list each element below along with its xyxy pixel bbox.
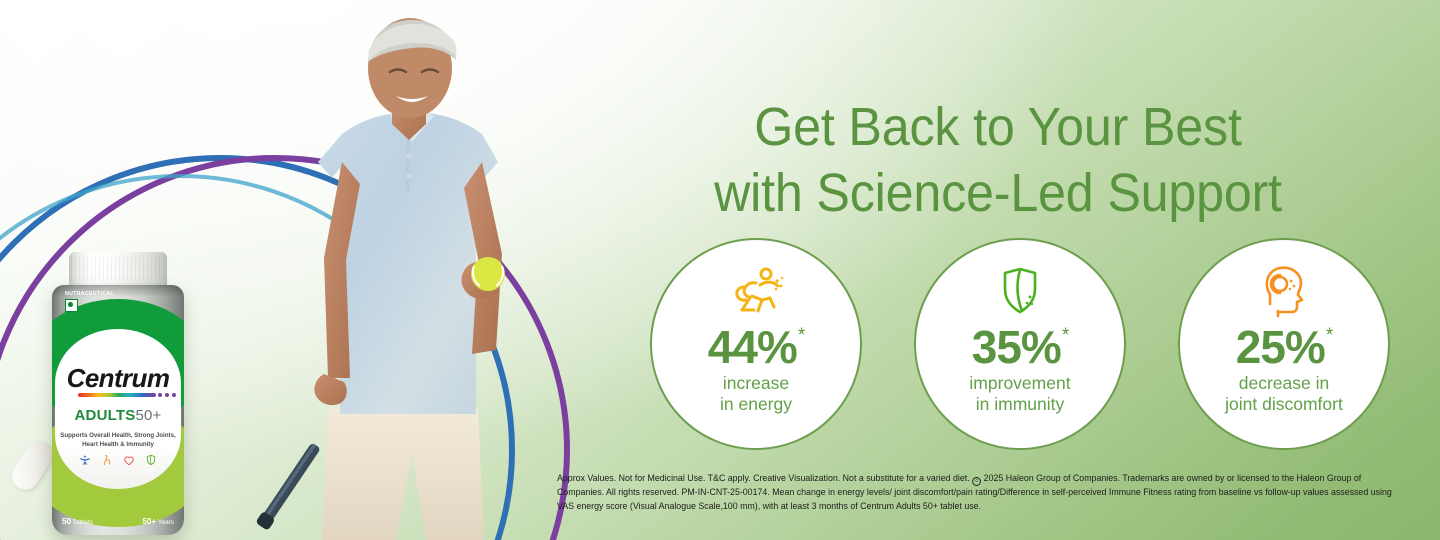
stat-value-joint: 25%* [1236,324,1332,370]
man-with-tennis-racket-photo [250,16,570,540]
stat-circle-group: 44%* increase in energy [650,238,1390,450]
benefit-line-2: Heart Health & Immunity [82,441,154,448]
stat-circle-joint: 25%* decrease in joint discomfort [1178,238,1390,450]
bottle-count-row: 50 Tablets 50+ Years [62,517,174,526]
stat-label-joint-line-2: joint discomfort [1225,394,1343,414]
stat-asterisk-energy: * [798,326,804,345]
stat-number-immunity: 35% [972,324,1061,370]
stat-circle-immunity: 35%* improvement in immunity [914,238,1126,450]
disclaimer-text: Approx Values. Not for Medicinal Use. T&… [557,472,1407,514]
headline-line-2: with Science-Led Support [587,160,1409,226]
stat-value-energy: 44%* [708,324,804,370]
benefit-text: Supports Overall Health, Strong Joints, … [60,432,176,449]
stat-value-immunity: 35%* [972,324,1068,370]
heart-icon [122,453,136,467]
rainbow-accent-dots [158,393,176,397]
tablet-count-unit: Tablets [73,519,93,526]
disclaimer-part-1: Approx Values. Not for Medicinal Use. T&… [557,473,972,483]
head-profile-icon [1258,262,1310,320]
stat-asterisk-immunity: * [1062,326,1068,345]
nutraceutical-label: NUTRACEUTICAL [65,291,114,297]
benefit-line-1: Supports Overall Health, Strong Joints, [60,432,176,439]
stat-label-joint: decrease in joint discomfort [1225,373,1343,415]
bottle-body: NUTRACEUTICAL Centrum ADULTS50+ Supports… [52,285,184,535]
tablet-count-number: 50 [62,517,71,526]
benefit-icon-row [52,453,184,467]
vegetarian-mark-icon [65,299,78,312]
stat-circle-energy: 44%* increase in energy [650,238,862,450]
variant-line: ADULTS50+ [52,407,184,425]
shield-icon [997,262,1043,320]
stat-number-energy: 44% [708,324,797,370]
stat-label-immunity-line-1: improvement [969,373,1070,393]
rainbow-accent-bar [78,393,156,397]
stat-label-energy-line-1: increase [723,373,789,393]
age-range: 50+ Years [142,517,174,526]
stat-label-energy-line-2: in energy [720,394,792,414]
running-person-icon [726,262,786,320]
joint-mobility-icon [100,453,114,467]
stat-label-energy: increase in energy [720,373,792,415]
copyright-icon: c [972,477,981,486]
brand-wordmark: Centrum [52,363,184,394]
shield-immunity-icon [144,453,158,467]
stat-label-joint-line-1: decrease in [1239,373,1329,393]
page-title: Get Back to Your Best with Science-Led S… [587,94,1409,226]
stat-asterisk-joint: * [1326,326,1332,345]
age-range-number: 50+ [142,517,156,526]
person-wellness-icon [78,453,92,467]
centrum-bottle: NUTRACEUTICAL Centrum ADULTS50+ Supports… [38,252,198,540]
stat-label-immunity: improvement in immunity [969,373,1070,415]
age-range-unit: Years [158,519,174,526]
variant-age: 50+ [135,407,161,424]
bottle-cap [69,252,167,288]
tablet-count: 50 Tablets [62,517,93,526]
stat-label-immunity-line-2: in immunity [976,394,1065,414]
variant-word: ADULTS [75,407,136,424]
stat-number-joint: 25% [1236,324,1325,370]
headline-line-1: Get Back to Your Best [754,97,1241,157]
centrum-promo-banner: NUTRACEUTICAL Centrum ADULTS50+ Supports… [0,0,1440,540]
